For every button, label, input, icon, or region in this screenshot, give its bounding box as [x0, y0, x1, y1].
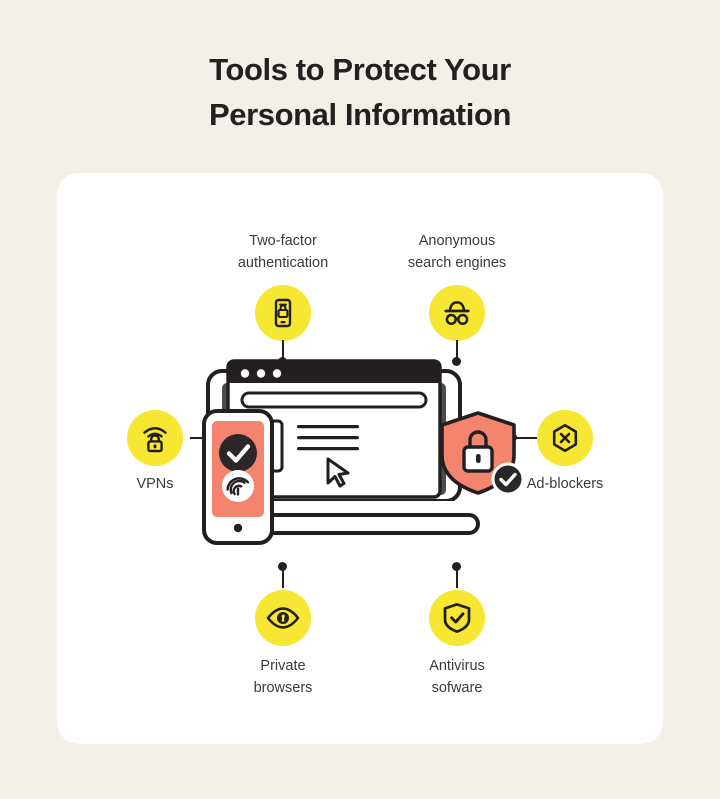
node-label-antivirus-software: Antivirus sofware	[377, 656, 537, 700]
eye-lock-icon	[265, 603, 301, 633]
phone-lock-icon	[266, 296, 300, 330]
hexagon-x-icon	[548, 421, 582, 455]
browser-dot-1	[241, 369, 249, 377]
badge-antivirus-software[interactable]	[429, 590, 485, 646]
node-anonymous-search-engines[interactable]: Anonymous search engines	[377, 231, 537, 341]
page-title-line-2: Personal Information	[0, 93, 720, 138]
badge-two-factor-authentication[interactable]	[255, 285, 311, 341]
infographic-page: Tools to Protect Your Personal Informati…	[0, 0, 720, 799]
badge-private-browsers[interactable]	[255, 590, 311, 646]
security-shield	[442, 413, 523, 494]
wifi-lock-icon	[138, 421, 172, 455]
laptop-phone-shield-illustration	[190, 355, 535, 565]
page-title: Tools to Protect Your Personal Informati…	[0, 48, 720, 138]
page-title-line-1: Tools to Protect Your	[0, 48, 720, 93]
badge-vpns[interactable]	[127, 410, 183, 466]
node-label-two-factor-authentication: Two-factor authentication	[203, 231, 363, 275]
badge-anonymous-search-engines[interactable]	[429, 285, 485, 341]
badge-ad-blockers[interactable]	[537, 410, 593, 466]
browser-dot-3	[273, 369, 281, 377]
node-label-private-browsers: Private browsers	[203, 656, 363, 700]
node-label-anonymous-search-engines: Anonymous search engines	[377, 231, 537, 275]
browser-dot-2	[257, 369, 265, 377]
incognito-hat-glasses-icon	[439, 296, 475, 330]
node-two-factor-authentication[interactable]: Two-factor authentication	[203, 231, 363, 341]
node-antivirus-software[interactable]: Antivirus sofware	[377, 590, 537, 700]
shield-check-icon	[441, 601, 473, 635]
node-private-browsers[interactable]: Private browsers	[203, 590, 363, 700]
smartphone	[204, 411, 272, 543]
